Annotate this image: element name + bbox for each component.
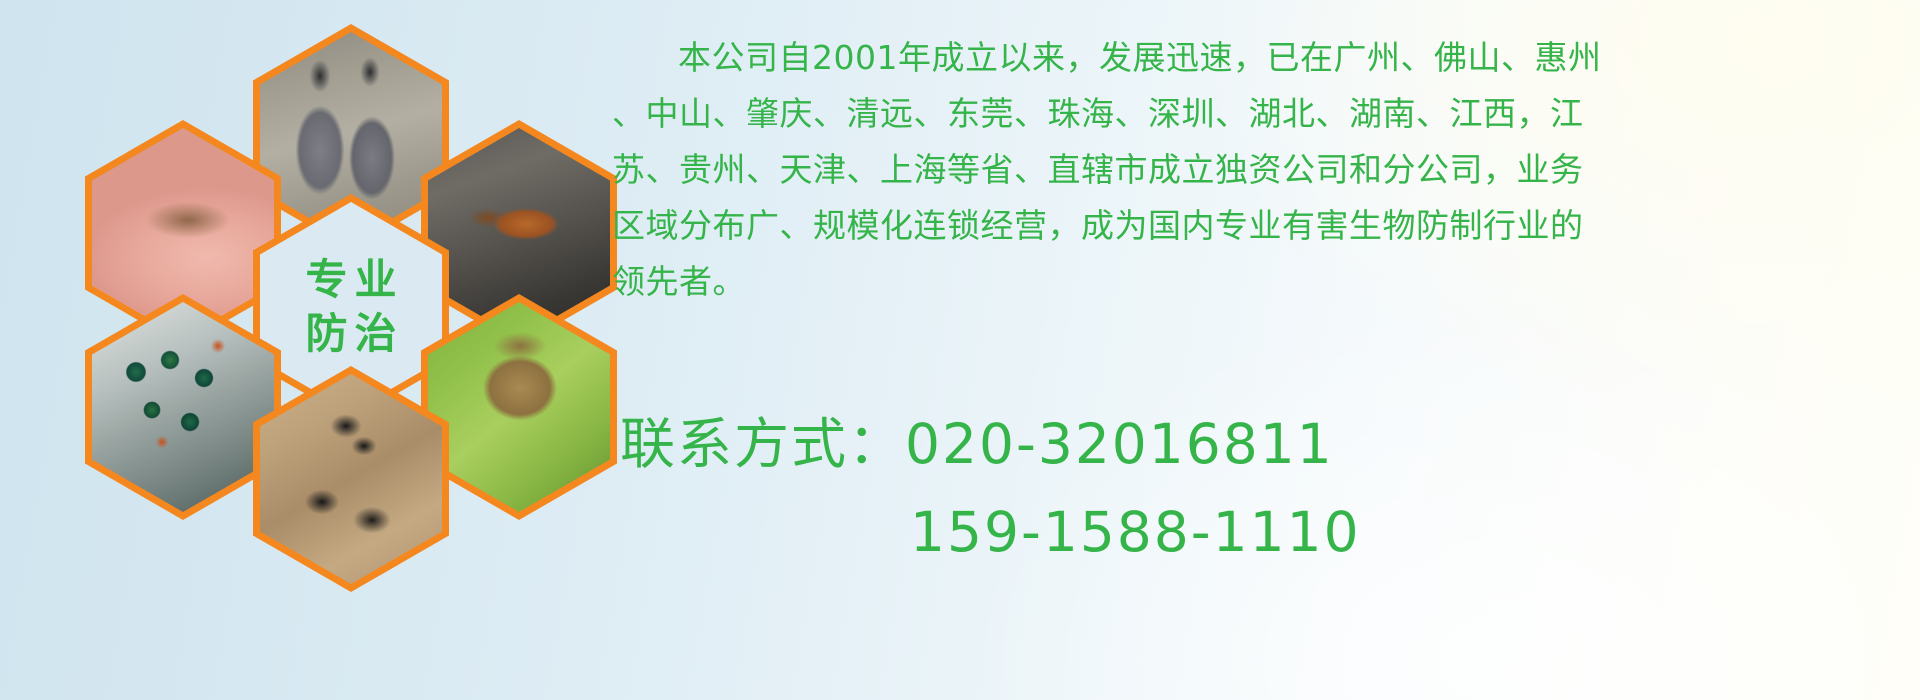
flies-photo — [92, 302, 274, 512]
hex-inner — [428, 302, 610, 512]
intro-line: 本公司自2001年成立以来，发展迅速，已在广州、佛山、惠州 — [612, 30, 1912, 86]
promo-banner: 专业 防治 本公司自2001年成立以来，发展迅速，已在广州、佛山、惠州 、中山、… — [0, 0, 1920, 700]
stink-bug-photo — [428, 302, 610, 512]
contact-block: 联系方式：020-32016811 159-1588-1110 — [620, 400, 1920, 576]
slogan-line-2: 防治 — [298, 307, 403, 361]
intro-line: 区域分布广、规模化连锁经营，成为国内专业有害生物防制行业的 — [612, 198, 1912, 254]
slogan-line-1: 专业 — [298, 253, 403, 307]
ant-photo — [260, 374, 442, 584]
hex-photo-flies — [85, 294, 281, 520]
contact-phone-secondary[interactable]: 159-1588-1110 — [620, 488, 1920, 576]
intro-line: 苏、贵州、天津、上海等省、直辖市成立独资公司和分公司，业务 — [612, 142, 1912, 198]
intro-line: 、中山、肇庆、清远、东莞、珠海、深圳、湖北、湖南、江西，江 — [612, 86, 1912, 142]
hex-photo-ant — [253, 366, 449, 592]
hex-inner — [92, 302, 274, 512]
hex-photo-stink-bug — [421, 294, 617, 520]
intro-line: 领先者。 — [612, 254, 1912, 310]
company-intro: 本公司自2001年成立以来，发展迅速，已在广州、佛山、惠州 、中山、肇庆、清远、… — [612, 30, 1912, 310]
hex-inner — [260, 374, 442, 584]
honeycomb-gallery: 专业 防治 — [85, 0, 605, 594]
contact-phone-primary[interactable]: 联系方式：020-32016811 — [620, 400, 1920, 488]
